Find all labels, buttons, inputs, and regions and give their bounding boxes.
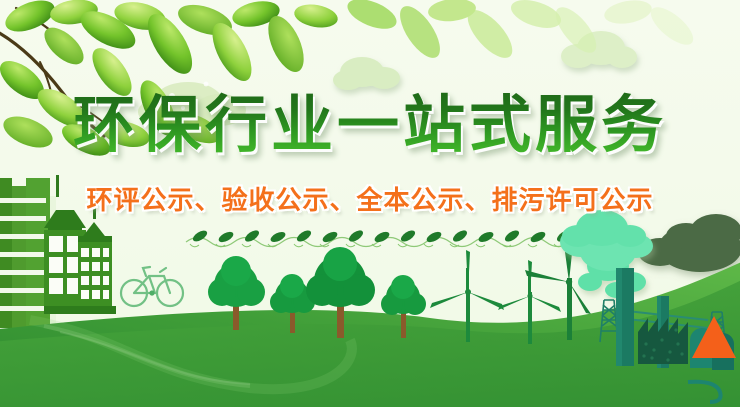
bicycle-icon bbox=[121, 267, 183, 306]
scene-layer bbox=[0, 0, 740, 407]
eco-industry-banner: 环保行业一站式服务 环评公示、验收公示、全本公示、排污许可公示 bbox=[0, 0, 740, 407]
factory-smoke bbox=[560, 210, 653, 298]
